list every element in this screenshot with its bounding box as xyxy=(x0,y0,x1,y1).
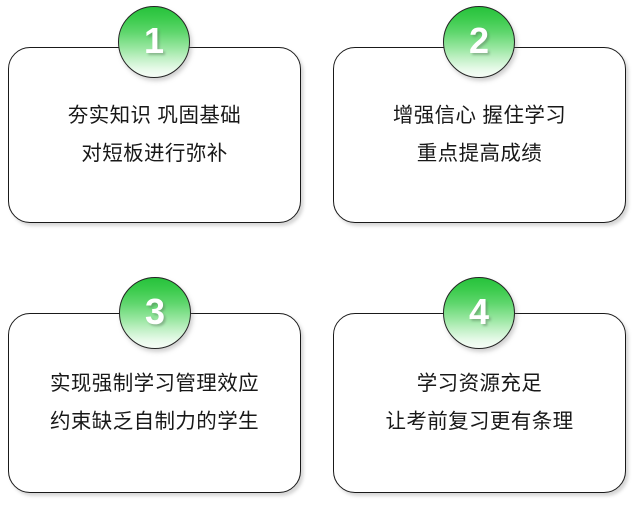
card-1-line-2: 对短板进行弥补 xyxy=(68,135,241,173)
card-2-line-1: 增强信心 握住学习 xyxy=(393,97,566,135)
badge-circle-4[interactable]: 4 xyxy=(443,277,515,349)
badge-circle-1[interactable]: 1 xyxy=(118,6,190,78)
card-4-line-2: 让考前复习更有条理 xyxy=(385,403,573,441)
card-3-text: 实现强制学习管理效应 约束缺乏自制力的学生 xyxy=(50,365,259,441)
badge-number-2: 2 xyxy=(469,23,489,59)
card-2-text: 增强信心 握住学习 重点提高成绩 xyxy=(393,97,566,173)
card-4-text: 学习资源充足 让考前复习更有条理 xyxy=(385,365,573,441)
card-1-text: 夯实知识 巩固基础 对短板进行弥补 xyxy=(68,97,241,173)
badge-number-1: 1 xyxy=(144,23,164,59)
badge-number-3: 3 xyxy=(145,294,165,330)
card-4-line-1: 学习资源充足 xyxy=(385,365,573,403)
card-1-line-1: 夯实知识 巩固基础 xyxy=(68,97,241,135)
badge-circle-3[interactable]: 3 xyxy=(119,277,191,349)
badge-number-4: 4 xyxy=(469,294,489,330)
badge-circle-2[interactable]: 2 xyxy=(443,6,515,78)
diagram-board: 夯实知识 巩固基础 对短板进行弥补 1 增强信心 握住学习 重点提高成绩 2 实… xyxy=(0,0,633,505)
card-3-line-1: 实现强制学习管理效应 xyxy=(50,365,259,403)
card-2-line-2: 重点提高成绩 xyxy=(393,135,566,173)
card-3-line-2: 约束缺乏自制力的学生 xyxy=(50,403,259,441)
